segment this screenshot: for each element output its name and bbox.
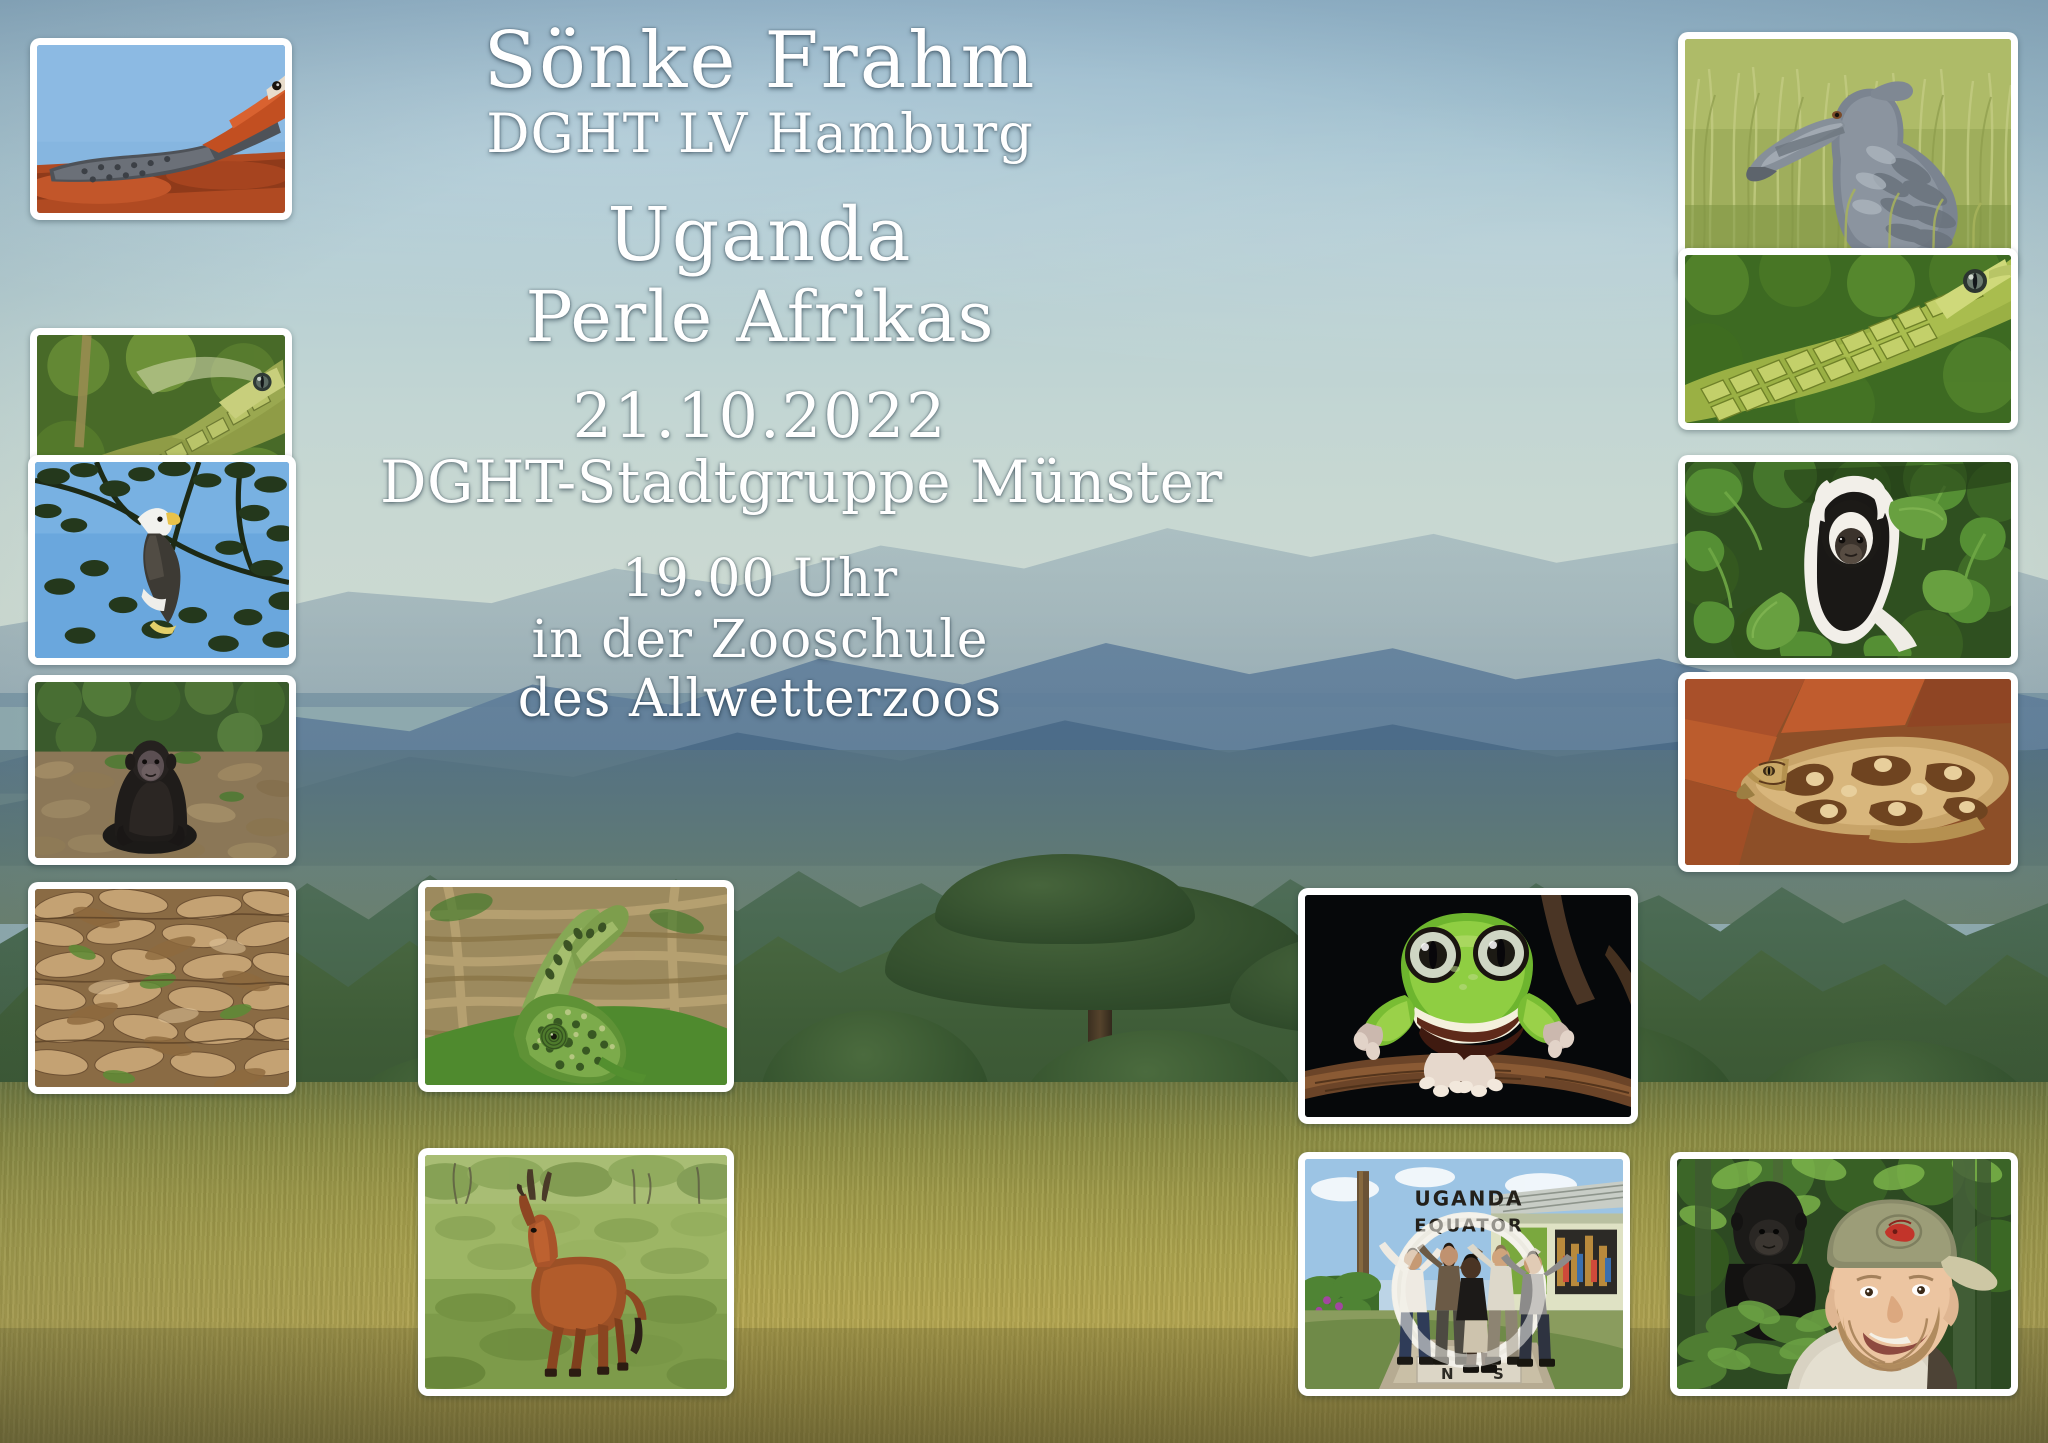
equator-marker-north: N [1441, 1365, 1454, 1383]
photo-fish-eagle [28, 455, 296, 665]
photo-chameleon [418, 880, 734, 1092]
photo-gaboon-leaves-image [35, 889, 289, 1087]
event-date: 21.10.2022 [380, 383, 1140, 449]
event-poster: N S UGANDA EQUATOR [0, 0, 2048, 1443]
photo-gaboon-viper-image [1685, 679, 2011, 865]
host-group: DGHT-Stadtgruppe Münster [380, 452, 1140, 513]
photo-gorilla-selfie [1670, 1152, 2018, 1396]
photo-gaboon-leaves [28, 882, 296, 1094]
photo-fish-eagle-image [35, 462, 289, 658]
photo-agama [30, 38, 292, 220]
equator-sign-uganda: UGANDA [1415, 1186, 1524, 1210]
venue-line-1: in der Zooschule [380, 613, 1140, 668]
event-time: 19.00 Uhr [380, 552, 1140, 607]
speaker-name: Sönke Frahm [380, 20, 1140, 103]
venue-line-2: des Allwetterzoos [380, 672, 1140, 727]
photo-chimpanzee [28, 675, 296, 865]
photo-topi-image [425, 1155, 727, 1389]
photo-shoebill-image [1685, 39, 2011, 273]
photo-topi [418, 1148, 734, 1396]
organisation-line: DGHT LV Hamburg [380, 105, 1140, 162]
country-title: Uganda [380, 196, 1140, 274]
photo-equator-sign-image: N S UGANDA EQUATOR [1305, 1159, 1623, 1389]
photo-colobus [1678, 455, 2018, 665]
photo-bush-viper-2 [1678, 248, 2018, 430]
photo-tree-frog [1298, 888, 1638, 1124]
photo-gaboon-viper [1678, 672, 2018, 872]
photo-agama-image [37, 45, 285, 213]
photo-equator-sign: N S UGANDA EQUATOR [1298, 1152, 1630, 1396]
photo-shoebill [1678, 32, 2018, 280]
photo-chimpanzee-image [35, 682, 289, 858]
photo-bush-viper-2-image [1685, 255, 2011, 423]
photo-gorilla-selfie-image [1677, 1159, 2011, 1389]
photo-colobus-image [1685, 462, 2011, 658]
photo-chameleon-image [425, 887, 727, 1085]
poster-text-block: Sönke Frahm DGHT LV Hamburg Uganda Perle… [380, 20, 1140, 727]
subtitle: Perle Afrikas [380, 280, 1140, 354]
photo-tree-frog-image [1305, 895, 1631, 1117]
